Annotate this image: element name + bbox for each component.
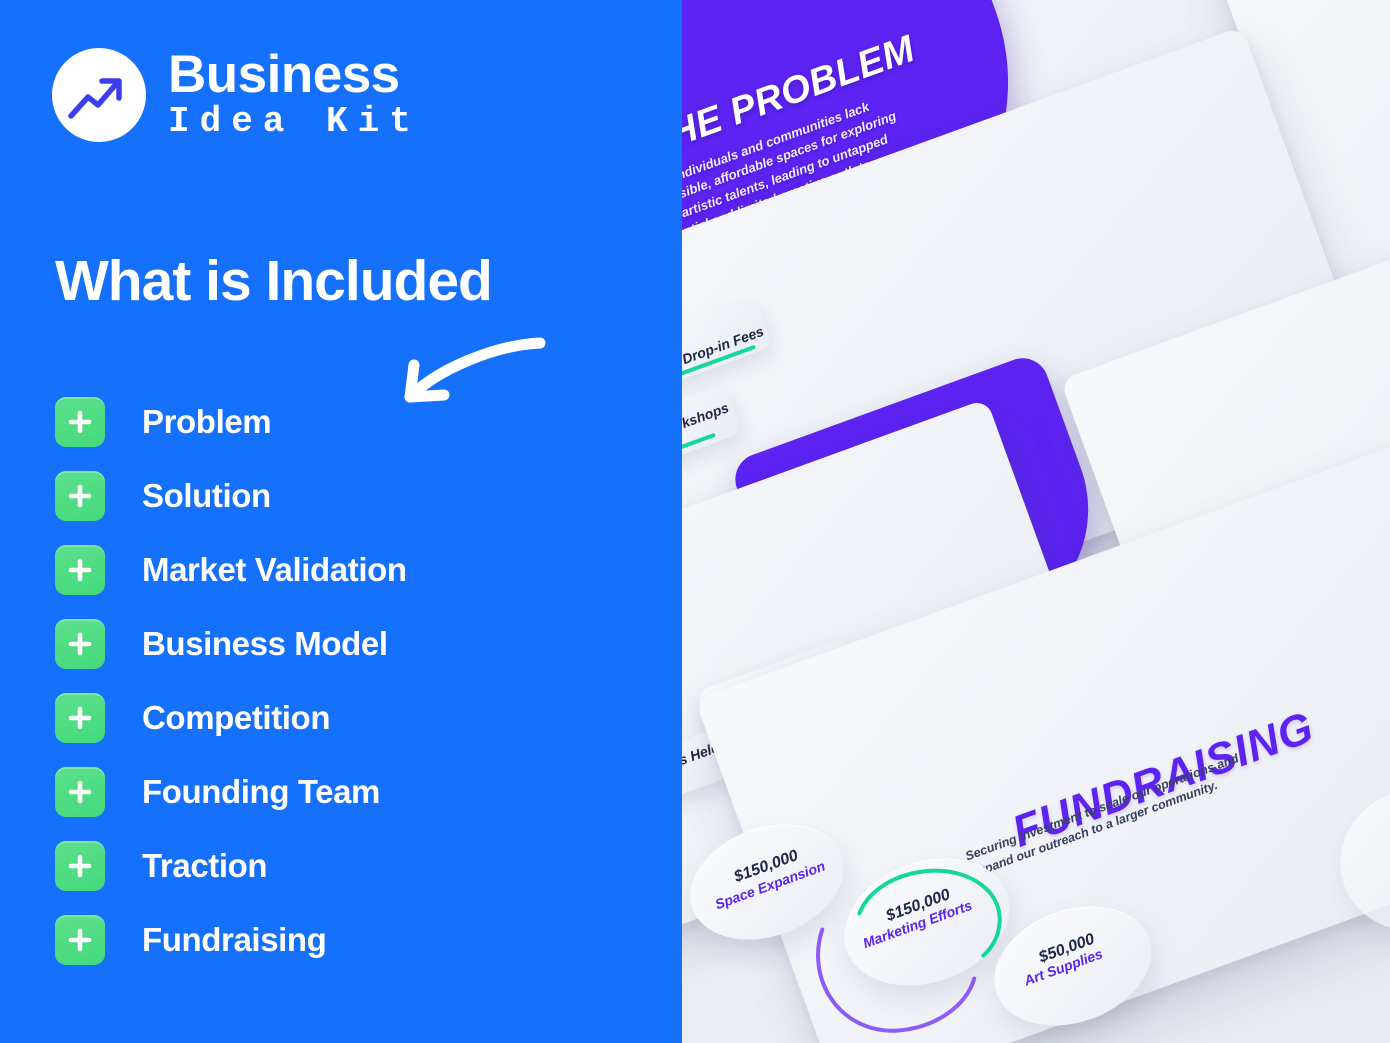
left-info-panel: Business Idea Kit What is Included Probl… <box>0 0 682 1043</box>
list-item[interactable]: Market Validation <box>55 533 655 607</box>
list-item-label: Traction <box>142 847 267 885</box>
list-item[interactable]: Problem <box>55 385 655 459</box>
list-item-label: Problem <box>142 403 271 441</box>
list-item[interactable]: Traction <box>55 829 655 903</box>
plus-icon <box>55 841 105 891</box>
brand-name-top: Business <box>168 48 421 102</box>
brand-text: Business Idea Kit <box>168 48 421 142</box>
list-item[interactable]: Business Model <box>55 607 655 681</box>
list-item-label: Competition <box>142 699 330 737</box>
page-title: What is Included <box>55 248 492 314</box>
list-item[interactable]: Competition <box>55 681 655 755</box>
list-item-label: Solution <box>142 477 271 515</box>
plus-icon <box>55 915 105 965</box>
plus-icon <box>55 471 105 521</box>
plus-icon <box>55 767 105 817</box>
included-items-list: Problem Solution Market Validation <box>55 385 655 977</box>
plus-icon <box>55 693 105 743</box>
list-item[interactable]: Solution <box>55 459 655 533</box>
brand-name-bottom: Idea Kit <box>168 102 421 142</box>
growth-chart-arrow-icon <box>68 64 130 126</box>
slides-showcase: THE PROBLEM Many individuals and communi… <box>660 0 1390 1043</box>
logo-circle <box>52 48 146 142</box>
plus-icon <box>55 545 105 595</box>
list-item[interactable]: Founding Team <box>55 755 655 829</box>
list-item-label: Business Model <box>142 625 388 663</box>
list-item-label: Founding Team <box>142 773 380 811</box>
brand-logo-row: Business Idea Kit <box>52 48 421 142</box>
plus-icon <box>55 397 105 447</box>
plus-icon <box>55 619 105 669</box>
list-item-label: Market Validation <box>142 551 407 589</box>
list-item[interactable]: Fundraising <box>55 903 655 977</box>
poster-canvas: THE PROBLEM Many individuals and communi… <box>0 0 1390 1043</box>
list-item-label: Fundraising <box>142 921 326 959</box>
